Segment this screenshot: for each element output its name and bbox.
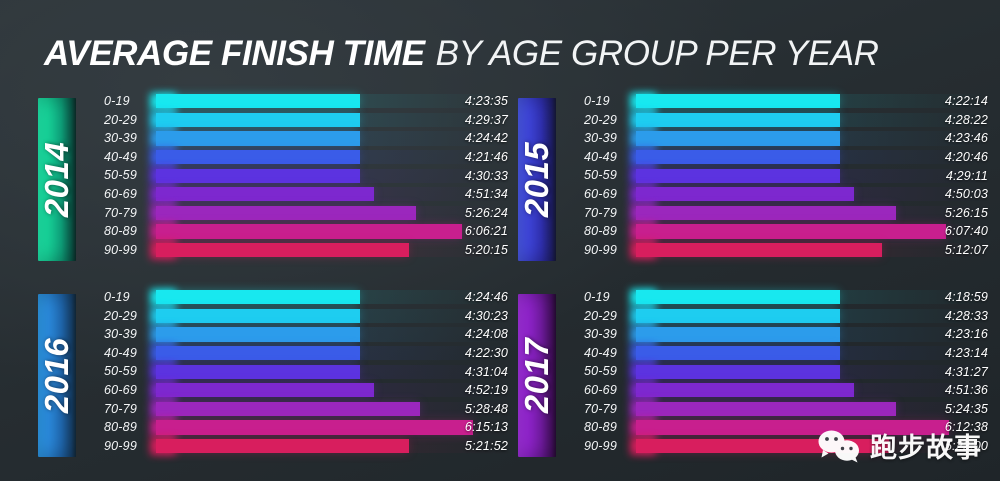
age-group-label: 40-49 (104, 151, 156, 164)
year-bar-2017: 2017 (518, 294, 556, 457)
age-group-label: 70-79 (584, 403, 636, 416)
age-group-label: 40-49 (104, 347, 156, 360)
bar (156, 187, 374, 201)
bar-track-area: 4:23:14 (636, 344, 988, 363)
bar-track-area: 6:15:13 (156, 418, 508, 437)
bar (636, 224, 946, 238)
age-group-row: 30-394:24:08 (104, 325, 508, 344)
age-group-row: 20-294:28:22 (584, 111, 988, 130)
bar (156, 224, 462, 238)
age-group-row: 0-194:18:59 (584, 288, 988, 307)
finish-time-value: 4:51:36 (945, 381, 988, 400)
age-group-row: 90-995:12:07 (584, 241, 988, 260)
finish-time-value: 5:20:15 (465, 241, 508, 260)
finish-time-value: 4:23:35 (465, 92, 508, 111)
age-group-row: 0-194:23:35 (104, 92, 508, 111)
bar-track-area: 4:23:35 (156, 92, 508, 111)
age-group-row: 60-694:51:36 (584, 381, 988, 400)
bar-track-area: 5:28:48 (156, 400, 508, 419)
year-panel-2016: 20160-194:24:4620-294:30:2330-394:24:084… (38, 288, 508, 478)
age-group-label: 0-19 (104, 291, 156, 304)
bar (156, 327, 360, 341)
age-group-label: 40-49 (584, 347, 636, 360)
year-bar-fill (38, 98, 76, 261)
bar-track-area: 4:23:46 (636, 129, 988, 148)
finish-time-value: 4:52:19 (465, 381, 508, 400)
bar (156, 420, 473, 434)
age-group-row: 80-896:06:21 (104, 222, 508, 241)
finish-time-value: 4:31:04 (465, 362, 508, 381)
age-group-label: 80-89 (584, 225, 636, 238)
finish-time-value: 4:29:11 (946, 166, 988, 185)
bar-track-area: 4:51:34 (156, 185, 508, 204)
age-group-label: 20-29 (584, 310, 636, 323)
finish-time-value: 5:26:24 (465, 204, 508, 223)
age-group-row: 70-795:26:15 (584, 204, 988, 223)
year-bar-2016: 2016 (38, 294, 76, 457)
age-group-row: 40-494:22:30 (104, 344, 508, 363)
bar (636, 365, 840, 379)
finish-time-value: 5:12:07 (945, 241, 988, 260)
finish-time-value: 5:26:15 (945, 204, 988, 223)
age-group-rows: 0-194:23:3520-294:29:3730-394:24:4240-49… (104, 92, 508, 282)
age-group-row: 60-694:50:03 (584, 185, 988, 204)
bar (636, 383, 854, 397)
age-group-label: 20-29 (104, 114, 156, 127)
age-group-label: 30-39 (104, 328, 156, 341)
age-group-row: 20-294:30:23 (104, 307, 508, 326)
age-group-label: 30-39 (584, 132, 636, 145)
bar-track-area: 4:31:04 (156, 362, 508, 381)
bar (156, 169, 360, 183)
finish-time-value: 4:30:23 (465, 307, 508, 326)
finish-time-value: 4:22:14 (945, 92, 988, 111)
age-group-label: 70-79 (104, 207, 156, 220)
bar-track-area: 4:51:36 (636, 381, 988, 400)
year-panel-2014: 20140-194:23:3520-294:29:3730-394:24:424… (38, 92, 508, 282)
bar (156, 402, 420, 416)
bar (636, 402, 896, 416)
age-group-label: 70-79 (104, 403, 156, 416)
finish-time-value: 5:24:35 (945, 400, 988, 419)
bar (156, 346, 360, 360)
age-group-label: 0-19 (584, 291, 636, 304)
finish-time-value: 5:22:00 (945, 437, 988, 456)
age-group-row: 70-795:24:35 (584, 400, 988, 419)
bar-track-area: 4:24:08 (156, 325, 508, 344)
age-group-row: 40-494:21:46 (104, 148, 508, 167)
age-group-row: 50-594:29:11 (584, 166, 988, 185)
bar-track-area: 5:24:35 (636, 400, 988, 419)
age-group-label: 90-99 (104, 244, 156, 257)
finish-time-value: 4:23:46 (945, 129, 988, 148)
age-group-row: 0-194:22:14 (584, 92, 988, 111)
age-group-label: 80-89 (104, 225, 156, 238)
bar (156, 94, 360, 108)
bar-track-area: 4:22:14 (636, 92, 988, 111)
finish-time-value: 6:15:13 (465, 418, 508, 437)
age-group-label: 0-19 (104, 95, 156, 108)
finish-time-value: 4:29:37 (465, 111, 508, 130)
finish-time-value: 4:18:59 (945, 288, 988, 307)
age-group-row: 20-294:29:37 (104, 111, 508, 130)
age-group-row: 80-896:15:13 (104, 418, 508, 437)
age-group-row: 40-494:23:14 (584, 344, 988, 363)
age-group-label: 50-59 (584, 169, 636, 182)
bar (636, 113, 840, 127)
age-group-row: 50-594:30:33 (104, 166, 508, 185)
bar-track-area: 4:21:46 (156, 148, 508, 167)
bar (156, 309, 360, 323)
page-title-strong: AVERAGE FINISH TIME (44, 34, 425, 74)
finish-time-value: 4:24:42 (465, 129, 508, 148)
bar (636, 206, 896, 220)
page-title-light: BY AGE GROUP PER YEAR (436, 34, 879, 74)
age-group-row: 20-294:28:33 (584, 307, 988, 326)
age-group-row: 60-694:52:19 (104, 381, 508, 400)
finish-time-value: 4:51:34 (465, 185, 508, 204)
age-group-row: 30-394:24:42 (104, 129, 508, 148)
bar-track-area: 4:23:16 (636, 325, 988, 344)
finish-time-value: 4:21:46 (465, 148, 508, 167)
bar (636, 169, 840, 183)
age-group-label: 20-29 (584, 114, 636, 127)
age-group-label: 90-99 (104, 440, 156, 453)
year-panel-grid: 20140-194:23:3520-294:29:3730-394:24:424… (0, 92, 1000, 481)
bar-track-area: 5:22:00 (636, 437, 988, 456)
bar-track-area: 5:20:15 (156, 241, 508, 260)
bar-track-area: 6:06:21 (156, 222, 508, 241)
bar-track-area: 4:50:03 (636, 185, 988, 204)
finish-time-value: 4:20:46 (945, 148, 988, 167)
age-group-row: 80-896:12:38 (584, 418, 988, 437)
age-group-rows: 0-194:22:1420-294:28:2230-394:23:4640-49… (584, 92, 988, 282)
age-group-label: 60-69 (104, 188, 156, 201)
age-group-label: 90-99 (584, 440, 636, 453)
year-bar-fill (518, 294, 556, 457)
age-group-row: 30-394:23:16 (584, 325, 988, 344)
age-group-rows: 0-194:18:5920-294:28:3330-394:23:1640-49… (584, 288, 988, 478)
finish-time-value: 4:50:03 (945, 185, 988, 204)
bar-track-area: 4:18:59 (636, 288, 988, 307)
finish-time-value: 4:24:08 (465, 325, 508, 344)
bar (156, 206, 416, 220)
age-group-label: 50-59 (104, 169, 156, 182)
year-panel-2017: 20170-194:18:5920-294:28:3330-394:23:164… (518, 288, 988, 478)
age-group-label: 50-59 (104, 365, 156, 378)
age-group-row: 90-995:22:00 (584, 437, 988, 456)
bar (636, 346, 840, 360)
bar-track-area: 4:24:46 (156, 288, 508, 307)
finish-time-value: 4:28:22 (945, 111, 988, 130)
age-group-label: 90-99 (584, 244, 636, 257)
bar (156, 383, 374, 397)
age-group-row: 70-795:28:48 (104, 400, 508, 419)
bar-track-area: 6:12:38 (636, 418, 988, 437)
bar-track-area: 4:29:11 (636, 166, 988, 185)
age-group-row: 90-995:21:52 (104, 437, 508, 456)
bar-track-area: 6:07:40 (636, 222, 988, 241)
finish-time-value: 4:28:33 (945, 307, 988, 326)
bar (156, 150, 360, 164)
age-group-label: 20-29 (104, 310, 156, 323)
finish-time-value: 4:22:30 (465, 344, 508, 363)
bar-track-area: 4:28:33 (636, 307, 988, 326)
age-group-label: 80-89 (104, 421, 156, 434)
bar-track-area: 5:26:24 (156, 204, 508, 223)
bar (636, 94, 840, 108)
year-panel-2015: 20150-194:22:1420-294:28:2230-394:23:464… (518, 92, 988, 282)
finish-time-value: 6:07:40 (945, 222, 988, 241)
year-bar-2015: 2015 (518, 98, 556, 261)
bar-track-area: 4:24:42 (156, 129, 508, 148)
age-group-row: 70-795:26:24 (104, 204, 508, 223)
page-title: AVERAGE FINISH TIME BY AGE GROUP PER YEA… (44, 28, 974, 80)
finish-time-value: 5:21:52 (465, 437, 508, 456)
bar (636, 150, 840, 164)
bar-track-area: 4:52:19 (156, 381, 508, 400)
age-group-row: 40-494:20:46 (584, 148, 988, 167)
bar (636, 327, 840, 341)
bar-track-area: 4:29:37 (156, 111, 508, 130)
age-group-label: 60-69 (104, 384, 156, 397)
bar (636, 439, 889, 453)
bar-track-area: 4:31:27 (636, 362, 988, 381)
bar (636, 243, 882, 257)
finish-time-value: 6:06:21 (465, 222, 508, 241)
age-group-rows: 0-194:24:4620-294:30:2330-394:24:0840-49… (104, 288, 508, 478)
age-group-row: 80-896:07:40 (584, 222, 988, 241)
year-bar-2014: 2014 (38, 98, 76, 261)
finish-time-value: 6:12:38 (945, 418, 988, 437)
age-group-label: 50-59 (584, 365, 636, 378)
bar-track-area: 4:30:33 (156, 166, 508, 185)
bar (156, 243, 409, 257)
age-group-label: 30-39 (584, 328, 636, 341)
age-group-label: 60-69 (584, 188, 636, 201)
age-group-row: 0-194:24:46 (104, 288, 508, 307)
bar (156, 365, 360, 379)
bar (156, 131, 360, 145)
age-group-label: 70-79 (584, 207, 636, 220)
age-group-label: 60-69 (584, 384, 636, 397)
year-bar-fill (38, 294, 76, 457)
bar-track-area: 4:22:30 (156, 344, 508, 363)
age-group-label: 0-19 (584, 95, 636, 108)
bar (636, 187, 854, 201)
age-group-label: 30-39 (104, 132, 156, 145)
bar (636, 290, 840, 304)
finish-time-value: 4:23:16 (945, 325, 988, 344)
finish-time-value: 4:30:33 (465, 166, 508, 185)
bar (156, 113, 360, 127)
bar-track-area: 5:26:15 (636, 204, 988, 223)
age-group-label: 40-49 (584, 151, 636, 164)
age-group-row: 30-394:23:46 (584, 129, 988, 148)
bar-track-area: 4:28:22 (636, 111, 988, 130)
age-group-label: 80-89 (584, 421, 636, 434)
bar (156, 439, 409, 453)
bar (156, 290, 360, 304)
bar-track-area: 4:20:46 (636, 148, 988, 167)
bar-track-area: 4:30:23 (156, 307, 508, 326)
year-bar-fill (518, 98, 556, 261)
age-group-row: 50-594:31:04 (104, 362, 508, 381)
bar (636, 309, 840, 323)
finish-time-value: 4:24:46 (465, 288, 508, 307)
bar (636, 420, 949, 434)
age-group-row: 50-594:31:27 (584, 362, 988, 381)
finish-time-value: 5:28:48 (465, 400, 508, 419)
bar (636, 131, 840, 145)
finish-time-value: 4:31:27 (945, 362, 988, 381)
age-group-row: 60-694:51:34 (104, 185, 508, 204)
bar-track-area: 5:21:52 (156, 437, 508, 456)
finish-time-value: 4:23:14 (945, 344, 988, 363)
age-group-row: 90-995:20:15 (104, 241, 508, 260)
bar-track-area: 5:12:07 (636, 241, 988, 260)
